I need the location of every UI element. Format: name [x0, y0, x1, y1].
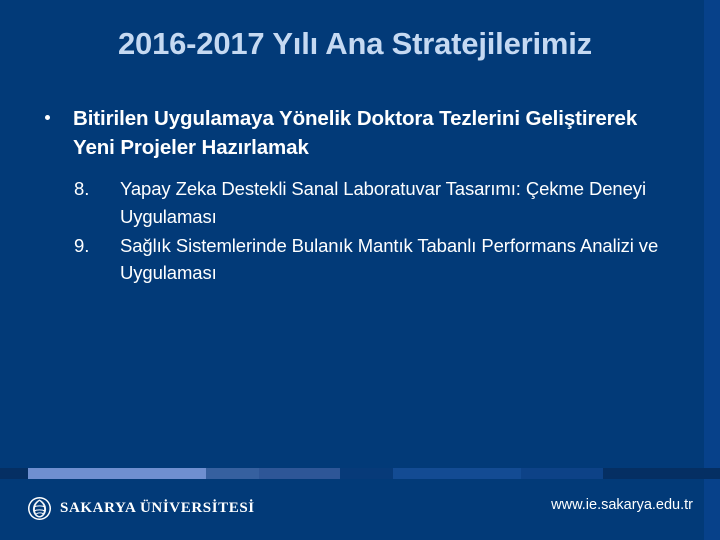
bullet-dot-icon: [45, 115, 50, 120]
sakarya-globe-emblem-icon: [27, 496, 52, 521]
band-segment-3: [259, 468, 340, 479]
list-item: 9. Sağlık Sistemlerinde Bulanık Mantık T…: [0, 232, 700, 287]
university-logo: SAKARYA ÜNİVERSİTESİ: [27, 496, 255, 521]
bullet-list-item: Bitirilen Uygulamaya Yönelik Doktora Tez…: [0, 104, 700, 162]
numbered-list: 8. Yapay Zeka Destekli Sanal Laboratuvar…: [0, 175, 700, 287]
university-logo-text: SAKARYA ÜNİVERSİTESİ: [60, 500, 255, 517]
band-segment-2: [206, 468, 259, 479]
list-item-number: 9.: [74, 232, 104, 259]
list-item-label: Yapay Zeka Destekli Sanal Laboratuvar Ta…: [120, 175, 660, 230]
footer-decorative-band: [0, 468, 720, 479]
band-segment-5: [393, 468, 521, 479]
footer-website-url: www.ie.sakarya.edu.tr: [551, 497, 693, 513]
list-item-number: 8.: [74, 175, 104, 202]
list-item: 8. Yapay Zeka Destekli Sanal Laboratuvar…: [0, 175, 700, 230]
band-segment-0: [0, 468, 28, 479]
presentation-slide: 2016-2017 Yılı Ana Stratejilerimiz Bitir…: [0, 0, 720, 540]
bullet-item-label: Bitirilen Uygulamaya Yönelik Doktora Tez…: [73, 104, 670, 162]
right-edge-accent-strip: [704, 0, 720, 540]
band-segment-7: [603, 468, 720, 479]
band-segment-1: [28, 468, 206, 479]
band-segment-6: [521, 468, 603, 479]
slide-body: Bitirilen Uygulamaya Yönelik Doktora Tez…: [0, 104, 700, 289]
page-title: 2016-2017 Yılı Ana Stratejilerimiz: [0, 26, 710, 62]
band-segment-4: [340, 468, 393, 479]
list-item-label: Sağlık Sistemlerinde Bulanık Mantık Taba…: [120, 232, 660, 287]
